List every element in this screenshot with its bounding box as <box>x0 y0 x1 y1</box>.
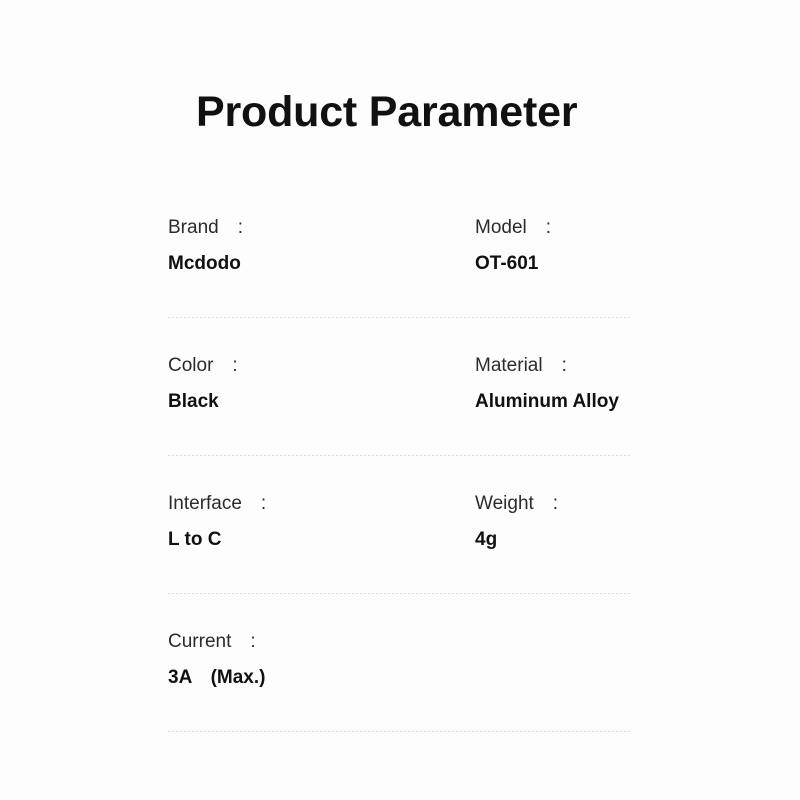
table-row: Interface : L to C Weight : 4g <box>168 456 632 594</box>
spec-value: Black <box>168 392 475 411</box>
spec-cell-color: Color : Black <box>168 318 475 456</box>
spec-cell-material: Material : Aluminum Alloy <box>475 318 632 456</box>
spec-cell-model: Model : OT-601 <box>475 180 632 318</box>
product-parameter-sheet: Product Parameter Brand : Mcdodo Model :… <box>0 0 800 800</box>
spec-cell-brand: Brand : Mcdodo <box>168 180 475 318</box>
page-title: Product Parameter <box>196 88 577 137</box>
spec-value: OT-601 <box>475 254 632 273</box>
table-row: Current : 3A (Max.) <box>168 594 632 732</box>
spec-label: Weight : <box>475 494 632 513</box>
spec-value: Aluminum Alloy <box>475 392 632 411</box>
spec-label: Current : <box>168 632 475 651</box>
spec-value: Mcdodo <box>168 254 475 273</box>
spec-value: L to C <box>168 530 475 549</box>
table-row: Brand : Mcdodo Model : OT-601 <box>168 180 632 318</box>
spec-cell-weight: Weight : 4g <box>475 456 632 594</box>
table-row: Color : Black Material : Aluminum Alloy <box>168 318 632 456</box>
spec-cell-interface: Interface : L to C <box>168 456 475 594</box>
spec-value: 4g <box>475 530 632 549</box>
spec-cell-current: Current : 3A (Max.) <box>168 594 475 732</box>
spec-label: Material : <box>475 356 632 375</box>
specification-table: Brand : Mcdodo Model : OT-601 Color : Bl… <box>168 180 632 732</box>
spec-label: Brand : <box>168 218 475 237</box>
spec-label: Interface : <box>168 494 475 513</box>
spec-value: 3A (Max.) <box>168 668 475 687</box>
spec-cell-empty <box>475 594 632 732</box>
spec-label: Color : <box>168 356 475 375</box>
spec-label: Model : <box>475 218 632 237</box>
